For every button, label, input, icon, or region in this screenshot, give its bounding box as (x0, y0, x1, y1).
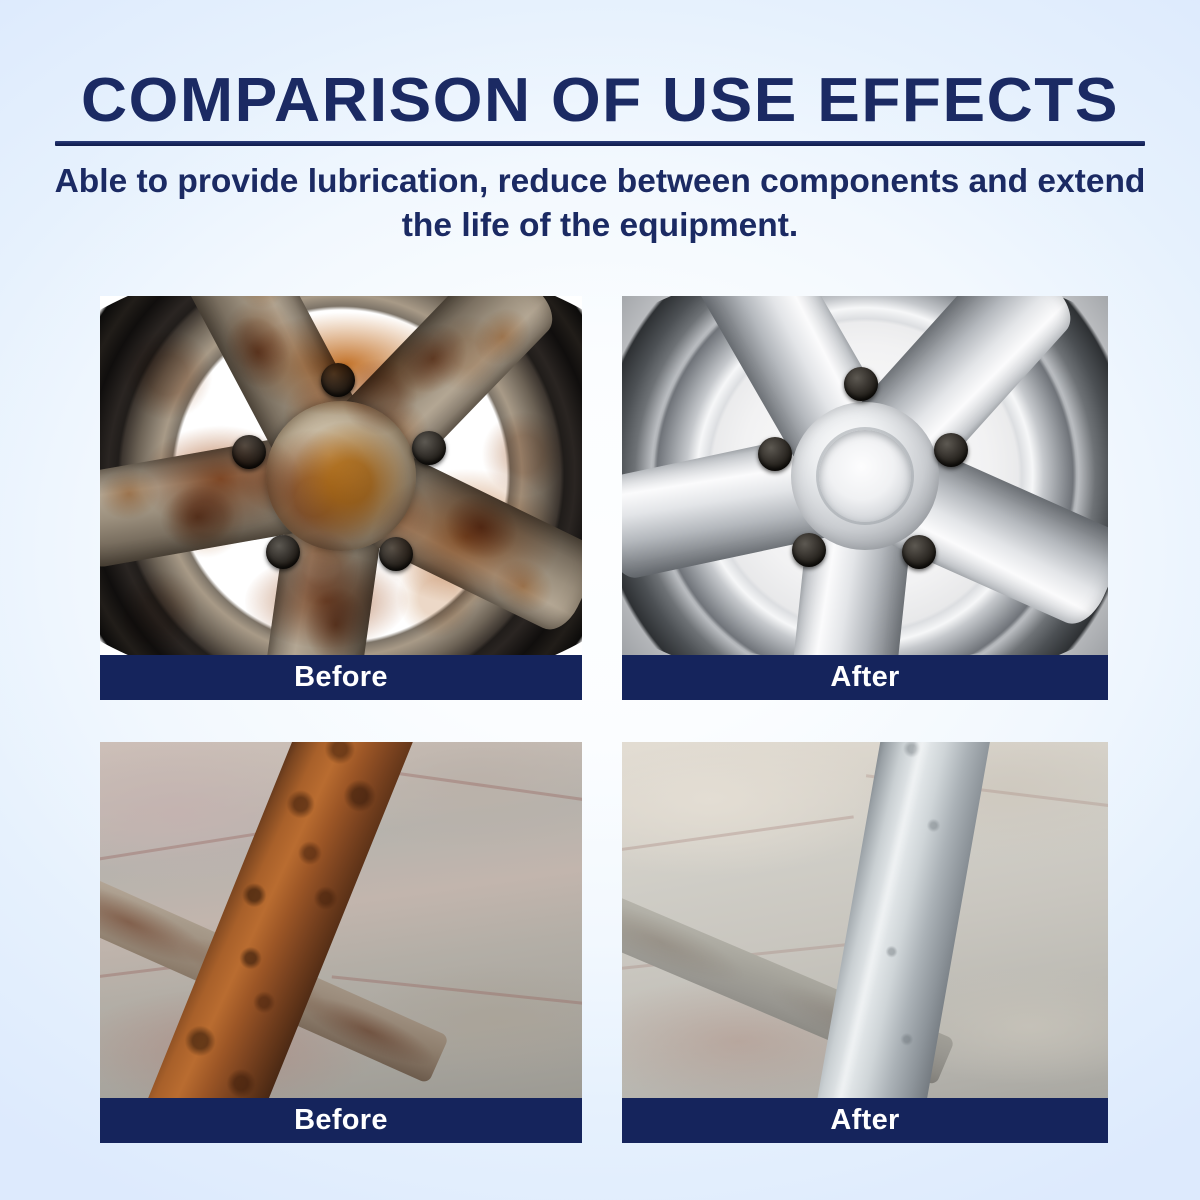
lug-nut (792, 533, 826, 567)
panel-wheel-before: Before (100, 296, 582, 700)
photo-clean-wheel (622, 296, 1108, 655)
lug-nut (758, 437, 792, 471)
hub-center-ring (819, 430, 911, 522)
caption-before: Before (100, 1098, 582, 1143)
lug-nut (844, 367, 878, 401)
wheel-rust-image (100, 296, 582, 655)
photo-clean-pipe (622, 742, 1108, 1098)
header: COMPARISON OF USE EFFECTS Able to provid… (0, 0, 1200, 132)
pipe-rust-image (100, 742, 582, 1098)
rust-texture (100, 296, 582, 655)
caption-after: After (622, 655, 1108, 700)
pipe-clean-image (622, 742, 1108, 1098)
caption-before: Before (100, 655, 582, 700)
wheel-clean-image (622, 296, 1108, 655)
lug-nut (934, 433, 968, 467)
comparison-infographic: COMPARISON OF USE EFFECTS Able to provid… (0, 0, 1200, 1200)
panel-pipe-after: After (622, 742, 1108, 1143)
photo-rusty-pipe (100, 742, 582, 1098)
panel-wheel-after: After (622, 296, 1108, 700)
panel-pipe-before: Before (100, 742, 582, 1143)
page-title: COMPARISON OF USE EFFECTS (0, 70, 1200, 132)
page-subtitle: Able to provide lubrication, reduce betw… (45, 160, 1155, 247)
caption-after: After (622, 1098, 1108, 1143)
title-divider (55, 141, 1145, 146)
photo-rusty-wheel (100, 296, 582, 655)
lug-nut (902, 535, 936, 569)
